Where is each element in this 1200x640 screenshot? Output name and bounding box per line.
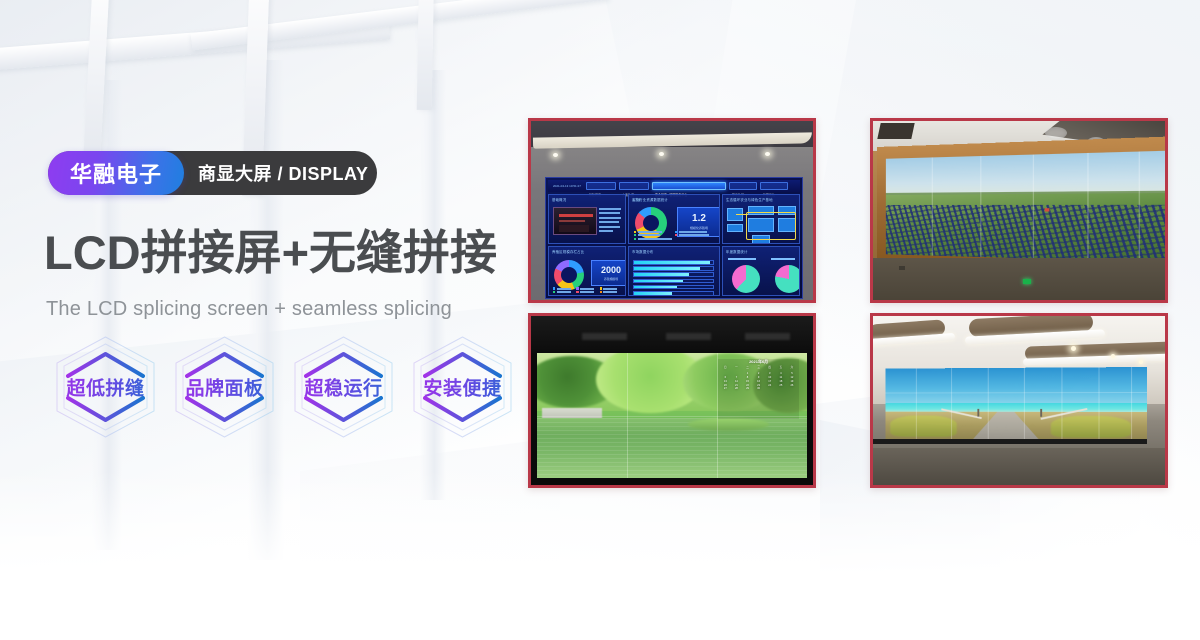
calendar-weekday: 五 <box>776 366 787 369</box>
solar-floor-marker <box>899 266 905 270</box>
dash-panel: 养殖区规模存栏占比 2000 养殖规模场 家 <box>548 246 626 296</box>
calendar-day: 16 <box>753 380 764 383</box>
feature-hexagon-item: 超稳运行 <box>284 332 403 442</box>
calendar-day: 1 <box>742 372 753 375</box>
lake-bezel-reflection <box>745 333 790 340</box>
dash-tab-active[interactable]: 畜禽屠宰 / 管理服务平台 <box>652 182 726 190</box>
calendar-day: 18 <box>776 380 787 383</box>
dash-panel-grid: 基础概况 <box>548 194 800 296</box>
dash-bar-row <box>633 291 714 296</box>
photo-dashboard-video-wall: 2021-04-13 10:51:27 基础概况 市场数据 畜禽屠宰 / 管理服… <box>528 118 816 303</box>
calendar-day: 15 <box>742 380 753 383</box>
beach-grass <box>891 415 957 437</box>
dash-screen-header: 2021-04-13 10:51:27 基础概况 市场数据 畜禽屠宰 / 管理服… <box>548 180 800 192</box>
lake-water <box>537 418 808 478</box>
calendar-day: 27 <box>720 387 731 390</box>
calendar-day: 10 <box>764 376 775 379</box>
dash-bar-row <box>633 272 714 277</box>
beach-grass <box>1050 416 1131 438</box>
calendar-weekday: 一 <box>731 366 742 369</box>
calendar-day: 28 <box>731 387 742 390</box>
dash-ceiling-light <box>765 152 770 156</box>
calendar-day: 7 <box>731 376 742 379</box>
dash-panel-title: 畜牧行业资源数据统计 <box>629 195 719 202</box>
calendar-day: 24 <box>764 384 775 387</box>
dash-pie-chart <box>775 265 800 293</box>
dash-bar-row <box>633 260 714 265</box>
calendar-day <box>731 372 742 375</box>
calendar-day: 2 <box>753 372 764 375</box>
lake-calendar-overlay: 2021年6月 日 一 二 三 四 五 六 123456789101112131… <box>718 359 799 419</box>
calendar-weekday: 二 <box>742 366 753 369</box>
calendar-day <box>764 387 775 390</box>
calendar-weekday: 日 <box>720 366 731 369</box>
calendar-day: 12 <box>787 376 798 379</box>
dash-stat-caption: 养殖规模场 <box>592 277 626 281</box>
calendar-day <box>776 387 787 390</box>
solar-lower-wall <box>873 258 1165 300</box>
photo-beach-boardwalk-video-wall <box>870 313 1168 488</box>
calendar-day: 5 <box>787 372 798 375</box>
dash-panel-thumbnail <box>553 207 597 235</box>
feature-hexagon-list: 超低拼缝 品牌面板 超稳运行 <box>46 332 522 442</box>
calendar-day-grid: 1234567891011121314151617181920212223242… <box>718 371 799 392</box>
page-title: LCD拼接屏+无缝拼接 <box>44 229 497 276</box>
dash-pie-chart <box>732 265 760 293</box>
beach-post <box>977 408 979 416</box>
dash-ceiling-light <box>659 152 664 156</box>
calendar-day: 29 <box>742 387 753 390</box>
solar-ceiling-light <box>1045 127 1067 139</box>
dash-legend <box>634 231 715 240</box>
calendar-day: 25 <box>776 384 787 387</box>
dash-stat-box: 2000 养殖规模场 <box>591 260 626 286</box>
beach-post <box>1040 408 1042 416</box>
dash-panel: 基础概况 <box>548 194 626 244</box>
feature-label: 超稳运行 <box>284 374 403 401</box>
dash-panel-title: 年度数据统计 <box>723 247 799 254</box>
dash-bar-row <box>633 285 714 290</box>
solar-screen <box>886 150 1165 262</box>
calendar-day: 9 <box>753 376 764 379</box>
calendar-day: 19 <box>787 380 798 383</box>
calendar-weekday: 三 <box>753 366 764 369</box>
dash-bar-row <box>633 279 714 284</box>
brand-badge: 华融电子 商显大屏 / DISPLAY <box>48 151 368 195</box>
dash-stat-caption: 规模化养殖场 <box>678 226 720 230</box>
beach-screen-base <box>873 439 1147 444</box>
dash-panel: 生态循环农业与绿色生产基地 <box>722 194 800 244</box>
calendar-day: 26 <box>787 384 798 387</box>
brand-category-label: 商显大屏 / DISPLAY <box>198 160 368 186</box>
feature-hexagon-item: 安装便捷 <box>403 332 522 442</box>
calendar-day: 3 <box>764 372 775 375</box>
page-subtitle: The LCD splicing screen + seamless splic… <box>46 298 452 321</box>
solar-red-marker <box>1044 209 1049 212</box>
feature-hexagon-item: 品牌面板 <box>165 332 284 442</box>
dash-bar-chart <box>633 260 714 296</box>
calendar-weekday: 六 <box>787 366 798 369</box>
dash-tab[interactable]: 基础概况 <box>586 182 616 190</box>
dash-panel: 市场数据分布 <box>628 246 720 296</box>
calendar-day <box>787 387 798 390</box>
dash-screen: 2021-04-13 10:51:27 基础概况 市场数据 畜禽屠宰 / 管理服… <box>545 177 803 299</box>
feature-label: 安装便捷 <box>403 374 522 401</box>
calendar-day: 11 <box>776 376 787 379</box>
beach-floor <box>873 448 1165 485</box>
photo-solar-farm-video-wall <box>870 118 1168 303</box>
brand-name-pill: 华融电子 <box>48 151 184 195</box>
dash-panel-title: 基础概况 <box>549 195 625 202</box>
dash-timestamp: 2021-04-13 10:51:27 <box>551 182 583 190</box>
lake-bezel-reflection <box>666 333 711 340</box>
feature-hexagon-item: 超低拼缝 <box>46 332 165 442</box>
solar-ceiling-vent <box>877 123 914 139</box>
dash-panel-title: 养殖区规模存栏占比 <box>549 247 625 254</box>
feature-label: 超低拼缝 <box>46 374 165 401</box>
calendar-day <box>720 372 731 375</box>
feature-label: 品牌面板 <box>165 374 284 401</box>
beach-downlight <box>1071 346 1076 351</box>
dash-panel-title: 市场数据分布 <box>629 247 719 254</box>
dash-flow-diagram <box>726 206 796 240</box>
dash-bar-row <box>633 266 714 271</box>
calendar-day: 14 <box>731 380 742 383</box>
calendar-day: 4 <box>776 372 787 375</box>
exit-sign-icon <box>1023 279 1031 284</box>
dash-stat-value: 2000 <box>592 265 626 275</box>
dash-pie-legend <box>728 258 795 260</box>
beach-screen <box>886 367 1148 441</box>
dash-legend <box>553 287 622 293</box>
calendar-day: 17 <box>764 380 775 383</box>
beach-downlight <box>1139 360 1143 364</box>
beach-sky <box>886 367 1148 406</box>
dash-panel-title: 生态循环农业与绿色生产基地 <box>723 195 799 202</box>
calendar-day: 8 <box>742 376 753 379</box>
calendar-day: 13 <box>720 380 731 383</box>
calendar-day: 6 <box>720 376 731 379</box>
dash-tab[interactable]: 管理系统 <box>760 182 788 190</box>
photo-lake-scenery-video-wall: 2021年6月 日 一 二 三 四 五 六 123456789101112131… <box>528 313 816 488</box>
dash-donut-hole <box>643 215 659 231</box>
dash-panel-textlines <box>599 208 622 232</box>
dash-tab[interactable]: 环境监测 <box>729 182 757 190</box>
dash-tab[interactable]: 市场数据 <box>619 182 649 190</box>
calendar-weekday: 四 <box>764 366 775 369</box>
solar-panel-array <box>886 204 1165 262</box>
solar-wood-frame <box>877 136 1165 276</box>
beach-downlight <box>1111 354 1115 358</box>
dash-ceiling-light <box>553 153 558 157</box>
lake-screen: 2021年6月 日 一 二 三 四 五 六 123456789101112131… <box>537 353 808 478</box>
banner-text-column: 华融电子 商显大屏 / DISPLAY LCD拼接屏+无缝拼接 The LCD … <box>0 0 530 640</box>
dash-stat-unit: 万家 <box>635 198 641 202</box>
lake-bezel-reflection <box>582 333 627 340</box>
dash-panel: 畜牧行业资源数据统计 1.2 规模化养殖场 万家 <box>628 194 720 244</box>
calendar-day: 30 <box>753 387 764 390</box>
dash-stat-value: 1.2 <box>678 213 720 224</box>
dash-donut-hole <box>561 267 577 283</box>
dash-panel: 年度数据统计 <box>722 246 800 296</box>
lake-far-bank <box>688 418 769 431</box>
